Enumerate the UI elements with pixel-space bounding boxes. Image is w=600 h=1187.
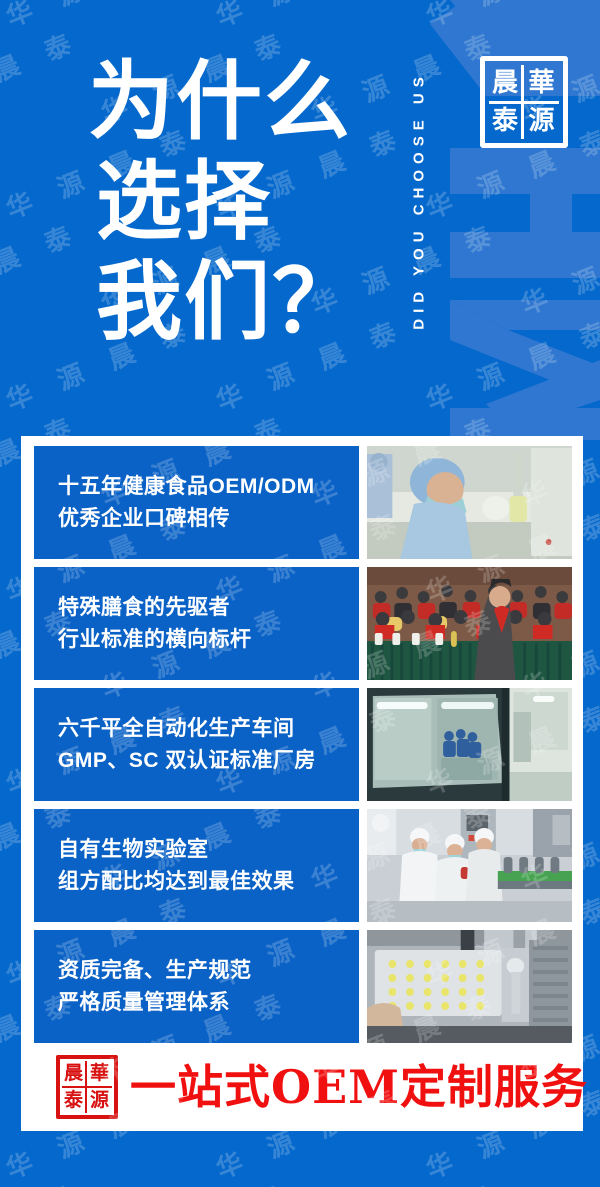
feature-line-1: 特殊膳食的先驱者 [58, 592, 359, 624]
feature-line-2: GMP、SC 双认证标准厂房 [58, 745, 359, 777]
vertical-english-text: DID YOU CHOOSE US [411, 71, 428, 329]
header-section: 为什么 选择 我们？ DID YOU CHOOSE US 晨 華 泰 源 [0, 0, 600, 436]
page-title: 为什么 选择 我们？ [88, 52, 388, 352]
feature-line-2: 优秀企业口碑相传 [58, 503, 359, 535]
title-line-2: 选择 [88, 152, 388, 252]
features-panel: 十五年健康食品OEM/ODM 优秀企业口碑相传 [21, 436, 583, 1131]
footer-cta-text: 一站式OEM定制服务 [130, 1064, 588, 1110]
footer-seal-char-top-left: 晨 [62, 1061, 87, 1088]
feature-line-2: 组方配比均达到最佳效果 [58, 866, 359, 898]
feature-row: 自有生物实验室 组方配比均达到最佳效果 [34, 809, 572, 922]
feature-card[interactable]: 自有生物实验室 组方配比均达到最佳效果 [34, 809, 359, 922]
feature-line-1: 自有生物实验室 [58, 834, 359, 866]
vertical-english-subtitle: DID YOU CHOOSE US [398, 0, 440, 400]
feature-line-2: 行业标准的横向标杆 [58, 624, 359, 656]
feature-card[interactable]: 六千平全自动化生产车间 GMP、SC 双认证标准厂房 [34, 688, 359, 801]
feature-card[interactable]: 资质完备、生产规范 严格质量管理体系 [34, 930, 359, 1043]
poster-root: 为什么 选择 我们？ DID YOU CHOOSE US 晨 華 泰 源 十五年… [0, 0, 600, 1187]
photo-conference-audience-in-red-scarves [367, 567, 572, 680]
footer-seal-char-bottom-right: 源 [87, 1088, 112, 1113]
photo-clean-room-production-corridor [367, 688, 572, 801]
photo-tablet-blister-packing-machine [367, 930, 572, 1043]
feature-card[interactable]: 十五年健康食品OEM/ODM 优秀企业口碑相传 [34, 446, 359, 559]
feature-line-1: 六千平全自动化生产车间 [58, 713, 359, 745]
title-line-1: 为什么 [88, 52, 388, 152]
feature-row: 六千平全自动化生产车间 GMP、SC 双认证标准厂房 [34, 688, 572, 801]
feature-row: 特殊膳食的先驱者 行业标准的横向标杆 [34, 567, 572, 680]
footer-seal-char-top-right: 華 [87, 1061, 112, 1088]
footer-cta[interactable]: 晨 華 泰 源 一站式OEM定制服务 [34, 1051, 572, 1123]
feature-card[interactable]: 特殊膳食的先驱者 行业标准的横向标杆 [34, 567, 359, 680]
watermark-text: 华 源 晨 泰 [95, 1173, 295, 1187]
watermark-text: 华 源 晨 泰 [0, 1173, 85, 1187]
feature-row: 资质完备、生产规范 严格质量管理体系 [34, 930, 572, 1043]
watermark-text: 华 源 晨 泰 [305, 1173, 505, 1187]
watermark-text: 华 源 晨 泰 [515, 1173, 600, 1187]
feature-rows: 十五年健康食品OEM/ODM 优秀企业口碑相传 [34, 446, 572, 1043]
photo-workers-at-packaging-line [367, 809, 572, 922]
company-seal-logo-white: 晨 華 泰 源 [480, 56, 568, 148]
seal-char-bottom-left: 泰 [489, 104, 524, 140]
company-seal-logo-red: 晨 華 泰 源 [56, 1055, 118, 1119]
seal-char-top-right: 華 [524, 65, 559, 104]
photo-lab-technician-inspecting-vial [367, 446, 572, 559]
feature-line-1: 资质完备、生产规范 [58, 955, 359, 987]
footer-seal-char-bottom-left: 泰 [62, 1088, 87, 1113]
title-line-3: 我们？ [88, 252, 388, 352]
feature-line-1: 十五年健康食品OEM/ODM [58, 471, 359, 503]
feature-row: 十五年健康食品OEM/ODM 优秀企业口碑相传 [34, 446, 572, 559]
feature-line-2: 严格质量管理体系 [58, 987, 359, 1019]
seal-char-top-left: 晨 [489, 65, 524, 104]
seal-char-bottom-right: 源 [524, 104, 559, 140]
